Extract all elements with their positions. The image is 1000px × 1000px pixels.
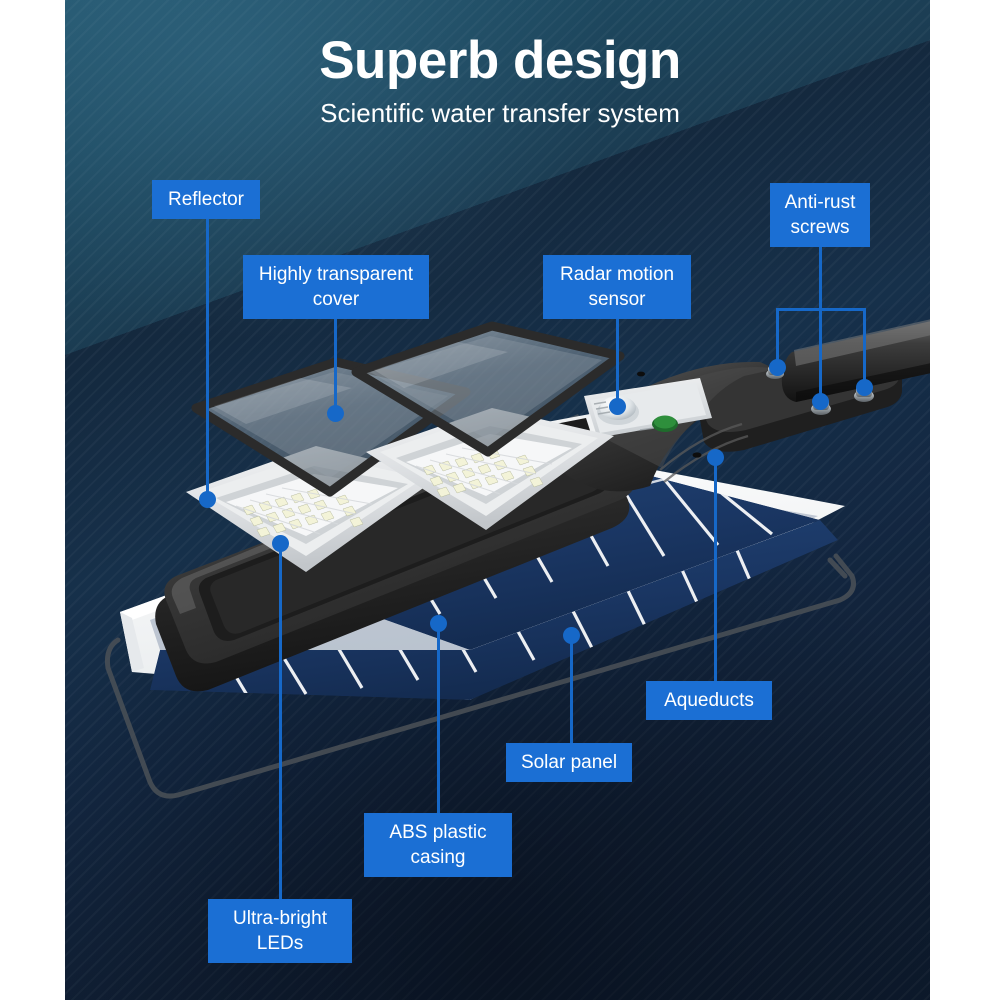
leader-dot-abs-casing <box>430 615 447 632</box>
leader-dot-transparent-cover <box>327 405 344 422</box>
leader-solar-panel <box>570 635 573 755</box>
callout-label-ultra-bright-leds[interactable]: Ultra-bright LEDs <box>208 899 352 963</box>
leader-screws-branch-1 <box>776 308 779 366</box>
callout-label-solar-panel[interactable]: Solar panel <box>506 743 632 782</box>
infographic-canvas: Reflector Highly transparent cover Radar… <box>0 0 1000 1000</box>
leader-ultra-bright-leds <box>279 543 282 905</box>
leader-transparent-cover <box>334 310 337 414</box>
leader-radar-sensor <box>616 312 619 406</box>
callout-label-abs-casing[interactable]: ABS plastic casing <box>364 813 512 877</box>
leader-dot-radar-sensor <box>609 398 626 415</box>
page-subtitle: Scientific water transfer system <box>0 98 1000 129</box>
leader-abs-casing <box>437 623 440 819</box>
leader-screws-branch-2 <box>819 308 822 400</box>
callout-label-transparent-cover[interactable]: Highly transparent cover <box>243 255 429 319</box>
leader-dot-aqueducts <box>707 449 724 466</box>
leader-screws-branch-3 <box>863 308 866 386</box>
leader-dot-screw-3 <box>856 379 873 396</box>
leader-dot-ultra-bright-leds <box>272 535 289 552</box>
callout-label-reflector[interactable]: Reflector <box>152 180 260 219</box>
page-title: Superb design <box>0 30 1000 91</box>
callout-label-radar-sensor[interactable]: Radar motion sensor <box>543 255 691 319</box>
leader-aqueducts-v <box>714 457 717 687</box>
right-margin <box>930 0 1000 1000</box>
callout-label-anti-rust-screws[interactable]: Anti-rust screws <box>770 183 870 247</box>
callout-label-aqueducts[interactable]: Aqueducts <box>646 681 772 720</box>
control-plate <box>584 378 712 438</box>
left-margin <box>0 0 65 1000</box>
leader-dot-reflector <box>199 491 216 508</box>
leader-dot-screw-1 <box>769 359 786 376</box>
leader-dot-solar-panel <box>563 627 580 644</box>
leader-reflector <box>206 214 209 500</box>
leader-dot-screw-2 <box>812 393 829 410</box>
leader-screws-stem <box>819 246 822 310</box>
